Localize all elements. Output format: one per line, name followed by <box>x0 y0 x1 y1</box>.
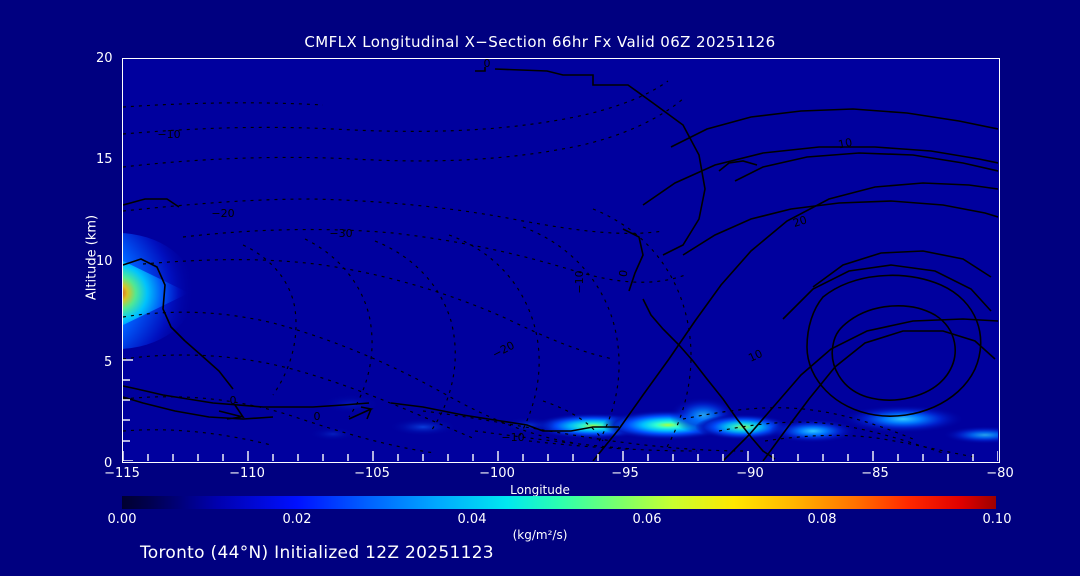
contour-label-3: −30 <box>329 227 352 240</box>
colorbar-units: (kg/m²/s) <box>0 528 1080 542</box>
y-tick-15: 15 <box>96 152 113 167</box>
colorbar-tick-5: 0.10 <box>962 512 1032 527</box>
x-tick-m80: −80 <box>970 466 1030 481</box>
contour-label-6: 0 <box>230 394 237 407</box>
plot-canvas: 0−10−20−30−10−2000−100102010 <box>123 59 998 461</box>
plot-page: CMFLX Longitudinal X−Section 66hr Fx Val… <box>0 0 1080 576</box>
contour-label-2: −20 <box>211 207 234 220</box>
colorbar-tick-4: 0.08 <box>787 512 857 527</box>
y-tick-20: 20 <box>96 51 113 66</box>
cross-section-plot[interactable]: 0−10−20−30−10−2000−100102010 <box>122 58 1000 463</box>
x-tick-m90: −90 <box>720 466 780 481</box>
contour-label-0: 0 <box>484 59 491 70</box>
colorbar-gradient <box>122 496 996 509</box>
colorbar-tick-0: 0.00 <box>87 512 157 527</box>
colorbar[interactable] <box>122 496 996 509</box>
x-tick-m110: −110 <box>217 466 277 481</box>
x-axis-label: Longitude <box>0 483 1080 497</box>
page-title: CMFLX Longitudinal X−Section 66hr Fx Val… <box>0 33 1080 51</box>
plot-background <box>123 59 998 461</box>
contour-label-4: −10 <box>573 270 586 293</box>
x-tick-m105: −105 <box>342 466 402 481</box>
x-tick-m100: −100 <box>467 466 527 481</box>
x-tick-m95: −95 <box>595 466 655 481</box>
figure-caption: Toronto (44°N) Initialized 12Z 20251123 <box>140 543 494 563</box>
colorbar-tick-2: 0.04 <box>437 512 507 527</box>
x-tick-m115: −115 <box>92 466 152 481</box>
y-tick-10: 10 <box>96 254 113 269</box>
contour-label-7: 0 <box>314 410 321 423</box>
y-tick-5: 5 <box>104 355 112 370</box>
x-tick-m85: −85 <box>845 466 905 481</box>
contour-label-1: −10 <box>157 128 180 141</box>
contour-label-8: −10 <box>501 431 524 444</box>
colorbar-tick-1: 0.02 <box>262 512 332 527</box>
colorbar-tick-3: 0.06 <box>612 512 682 527</box>
